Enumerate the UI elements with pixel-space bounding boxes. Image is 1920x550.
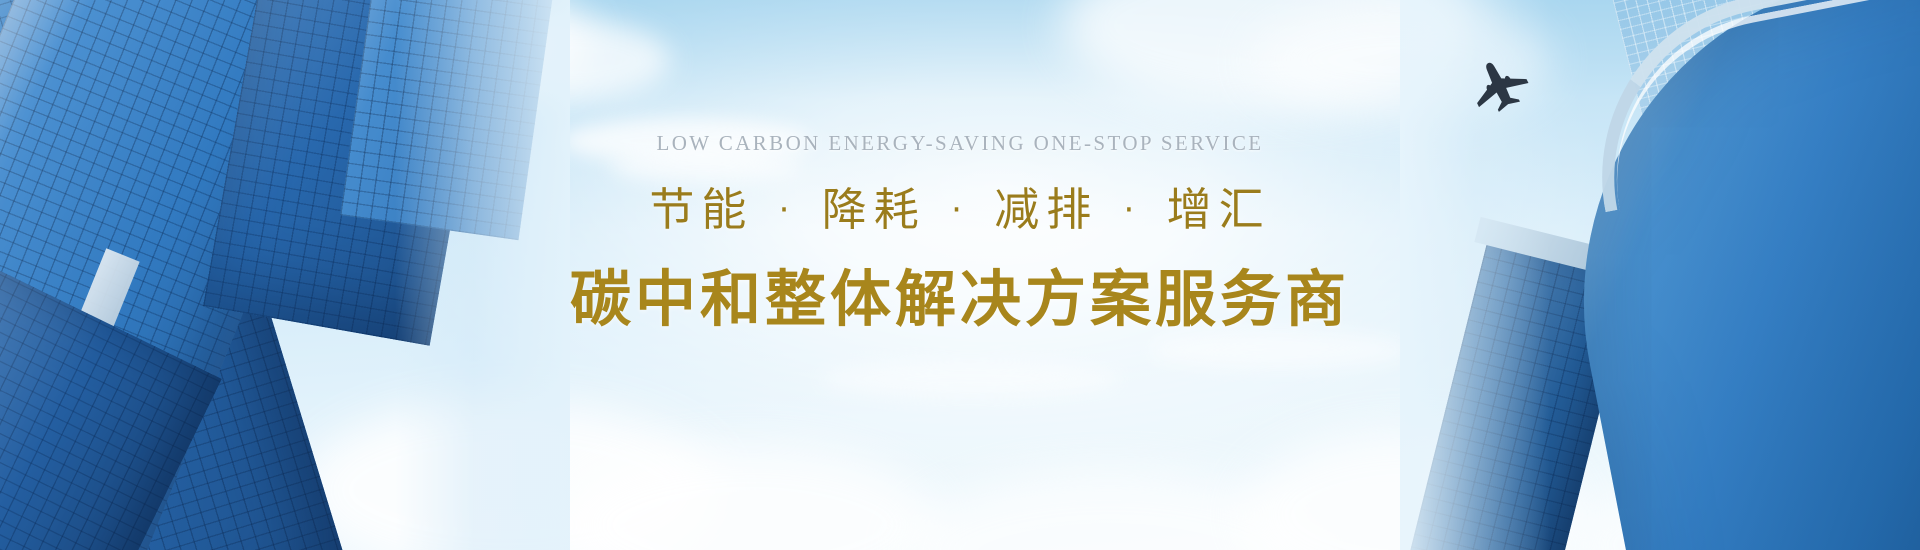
airplane-icon — [1468, 56, 1532, 112]
hero-banner: LOW CARBON ENERGY-SAVING ONE-STOP SERVIC… — [0, 0, 1920, 550]
left-edge-fade — [395, 0, 570, 550]
